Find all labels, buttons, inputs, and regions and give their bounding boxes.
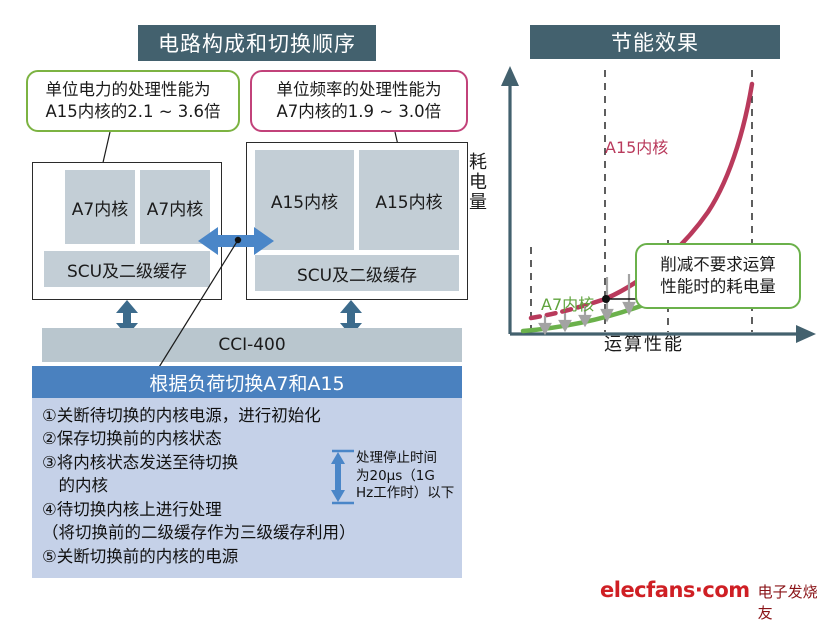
stop-time-arrow-icon bbox=[325, 448, 355, 506]
stop-time-note: 处理停止时间 为20μs（1G Hz工作时）以下 bbox=[356, 450, 466, 503]
callout-power-saving: 削减不要求运算 性能时的耗电量 bbox=[635, 243, 801, 309]
chart-series-label-a7: A7内核 bbox=[541, 291, 594, 315]
site-logo: elecfans·com 电子发烧友 bbox=[600, 578, 821, 623]
callout-power-saving-text: 削减不要求运算 性能时的耗电量 bbox=[660, 254, 776, 299]
switch-header-leader-line bbox=[0, 0, 500, 400]
site-logo-cn: 电子发烧友 bbox=[758, 581, 821, 623]
diagram-root: 电路构成和切换顺序 单位电力的处理性能为 A15内核的2.1 ~ 3.6倍 单位… bbox=[0, 0, 821, 614]
chart-series-label-a15: A15内核 bbox=[605, 134, 668, 158]
site-logo-main: elecfans·com bbox=[600, 578, 750, 602]
switch-policy-header: 根据负荷切换A7和A15 bbox=[32, 366, 462, 398]
chart-y-axis-label: 耗电量 bbox=[463, 152, 489, 212]
right-panel-title: 节能效果 bbox=[530, 25, 780, 59]
chart-y-axis bbox=[501, 66, 519, 334]
